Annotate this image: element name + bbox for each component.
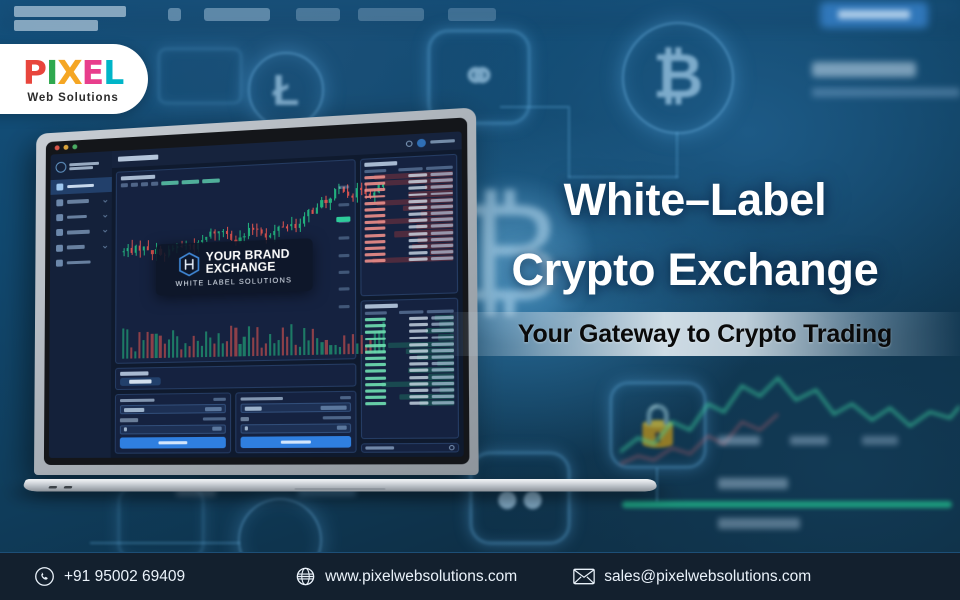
chevron-down-icon	[103, 229, 107, 233]
candle	[316, 180, 319, 316]
chart-tab-1h[interactable]	[141, 182, 148, 186]
chart-tab-indicators[interactable]	[161, 181, 178, 185]
promo-banner: ₿ ⚭ 🔒 ●● Ł PIXEL Web Solutions White–Lab…	[0, 0, 960, 600]
background-card-ghost	[158, 48, 242, 104]
sidebar-icon-charts	[56, 214, 63, 221]
volume-bar	[130, 347, 132, 358]
laptop-screen: YOUR BRAND EXCHANGE WHITE LABEL SOLUTION…	[49, 131, 464, 458]
sidebar-icon-dashboard	[56, 184, 63, 191]
volume-bar	[172, 330, 174, 357]
sell-fee-input[interactable]	[241, 423, 352, 433]
bitcoin-symbol-icon: ₿	[622, 44, 734, 110]
volume-bar	[197, 341, 199, 357]
dashboard-left-column: YOUR BRAND EXCHANGE WHITE LABEL SOLUTION…	[115, 159, 357, 454]
volume-bar	[155, 333, 157, 357]
volume-bar	[269, 334, 271, 355]
candle	[122, 190, 125, 321]
volume-bar	[180, 349, 182, 357]
current-price-marker	[336, 217, 350, 223]
volume-bar	[159, 335, 161, 357]
volume-bar	[334, 345, 336, 354]
brand-overlay: YOUR BRAND EXCHANGE WHITE LABEL SOLUTION…	[156, 238, 313, 296]
order-book-row[interactable]	[365, 387, 454, 394]
brand-overlay-subtitle: WHITE LABEL SOLUTIONS	[176, 277, 293, 288]
buy-order-input[interactable]	[120, 424, 226, 434]
volume-bar	[139, 332, 141, 358]
candle	[130, 189, 133, 321]
volume-bar	[143, 340, 145, 358]
background-text-ghost-1	[718, 436, 760, 445]
volume-bar	[184, 344, 186, 357]
background-panel-subtitle	[812, 88, 960, 97]
avatar[interactable]	[417, 138, 426, 147]
candle	[135, 189, 138, 321]
background-cta-label	[838, 10, 910, 19]
dashboard-header-title	[118, 155, 158, 162]
volume-bar	[360, 334, 362, 353]
hero-subtitle: Your Gateway to Crypto Trading	[450, 312, 960, 356]
background-nav-item-1	[296, 8, 340, 21]
chevron-down-icon	[103, 213, 107, 217]
volume-bar	[290, 324, 292, 355]
laptop-lid: YOUR BRAND EXCHANGE WHITE LABEL SOLUTION…	[34, 107, 479, 475]
volume-bar	[330, 345, 332, 354]
sell-amount-input[interactable]	[241, 403, 351, 414]
volume-bar	[134, 351, 136, 358]
candle	[325, 180, 328, 316]
candle	[320, 180, 323, 316]
sell-now-button[interactable]	[241, 436, 352, 448]
sidebar-label-trading	[67, 230, 90, 235]
laptop-ports	[48, 486, 72, 488]
signal-card-title	[120, 371, 148, 376]
globe-icon	[295, 566, 316, 587]
price-tick	[338, 202, 349, 206]
background-nav-item-2	[358, 8, 424, 21]
chart-card-title	[121, 175, 155, 181]
order-book-row[interactable]	[365, 400, 454, 407]
price-tick	[339, 305, 350, 308]
price-tick	[339, 254, 350, 258]
sidebar-icon-markets	[56, 199, 63, 206]
dashboard-main: YOUR BRAND EXCHANGE WHITE LABEL SOLUTION…	[111, 131, 464, 457]
volume-bar	[209, 338, 211, 357]
brand-overlay-name: YOUR BRAND EXCHANGE	[206, 248, 290, 277]
sidebar-icon-funds	[56, 244, 63, 251]
sidebar-label-funds	[67, 245, 85, 249]
volume-bar	[163, 344, 165, 358]
volume-bar	[321, 342, 323, 354]
sell-form-header	[241, 396, 351, 401]
volume-bar	[343, 335, 345, 354]
envelope-icon	[573, 568, 595, 585]
sidebar-icon-trading	[56, 229, 63, 236]
volume-bar	[295, 344, 297, 354]
price-tick	[339, 288, 350, 291]
volume-bar	[347, 344, 349, 354]
volume-bar	[352, 334, 354, 353]
volume-bar	[243, 337, 245, 356]
background-text-ghost-2	[790, 436, 828, 445]
volume-bar	[260, 348, 262, 356]
volume-bar	[325, 340, 327, 354]
background-panel-title	[812, 62, 916, 77]
trading-signal-card	[115, 363, 356, 390]
whatsapp-icon	[34, 566, 55, 587]
background-nav-item-3	[448, 8, 496, 21]
volume-bar	[226, 341, 228, 356]
notification-bell-icon[interactable]	[406, 140, 413, 147]
volume-bar	[222, 343, 224, 356]
chart-tab-overlay[interactable]	[202, 179, 220, 183]
volume-bar	[356, 343, 358, 353]
dashboard-sidebar	[49, 151, 112, 458]
chart-tab-compare[interactable]	[182, 180, 199, 184]
price-tick	[339, 236, 350, 240]
headline-line-2: Crypto Exchange	[430, 235, 960, 305]
buy-amount-input[interactable]	[120, 404, 226, 414]
dashboard-body: YOUR BRAND EXCHANGE WHITE LABEL SOLUTION…	[111, 149, 464, 457]
volume-bar	[247, 327, 249, 356]
logo-letter-0: P	[23, 57, 46, 89]
volume-bar	[192, 335, 194, 356]
volume-bar	[213, 343, 215, 356]
company-logo[interactable]: PIXEL Web Solutions	[0, 44, 148, 114]
trading-pairs-title	[364, 161, 397, 167]
dashboard-header-actions	[406, 137, 455, 148]
candle	[139, 189, 142, 321]
dashboard-brand-mark-icon	[56, 162, 67, 173]
background-nav-item-0	[204, 8, 270, 21]
volume-bar	[188, 346, 190, 357]
hero-headline: White–Label Crypto Exchange	[430, 165, 960, 305]
volume-bar	[256, 328, 258, 356]
background-brand-ghost-line2	[14, 20, 98, 31]
footer-website-text: www.pixelwebsolutions.com	[325, 568, 517, 586]
volume-bar	[273, 343, 275, 355]
sidebar-label-charts	[67, 215, 87, 219]
footer-email[interactable]: sales@pixelwebsolutions.com	[573, 568, 811, 586]
brand-overlay-line-2: EXCHANGE	[206, 261, 290, 277]
headline-line-1: White–Label	[430, 165, 960, 235]
sidebar-icon-account	[56, 260, 63, 267]
price-tick	[339, 271, 350, 274]
background-text-ghost-4	[718, 478, 788, 489]
sidebar-label-markets	[67, 199, 89, 204]
buy-rows	[365, 315, 454, 407]
chart-tab-5m[interactable]	[131, 183, 138, 187]
logo-wordmark: PIXEL	[23, 55, 124, 89]
hexagon-h-logo-icon	[178, 252, 200, 277]
status-bar	[361, 443, 459, 453]
chevron-down-icon	[103, 244, 107, 248]
volume-bar	[122, 328, 124, 358]
volume-bar	[218, 333, 220, 356]
sell-form-subheader	[241, 416, 351, 421]
dashboard-brand-text	[69, 161, 99, 170]
volume-bar	[282, 328, 284, 355]
price-tick	[338, 185, 349, 189]
volume-bar	[235, 327, 237, 356]
signal-card-button[interactable]	[120, 377, 161, 386]
status-label	[365, 446, 394, 450]
buy-form-header	[120, 397, 226, 402]
logo-letter-1: I	[46, 57, 57, 89]
laptop-bezel: YOUR BRAND EXCHANGE WHITE LABEL SOLUTION…	[44, 117, 470, 465]
volume-bar	[308, 340, 310, 355]
price-axis	[336, 179, 351, 316]
logo-letter-3: E	[82, 57, 104, 89]
logo-letter-4: L	[103, 57, 123, 89]
volume-bar	[264, 343, 266, 355]
footer-website[interactable]: www.pixelwebsolutions.com	[295, 566, 517, 587]
logo-letter-2: X	[57, 57, 81, 89]
footer-phone-text: +91 95002 69409	[64, 568, 185, 586]
sidebar-label-account	[67, 260, 91, 264]
buy-now-button[interactable]	[120, 437, 226, 449]
trading-fees-book	[360, 298, 459, 439]
volume-bar	[252, 338, 254, 356]
background-mini-chart	[620, 360, 960, 480]
background-brand-ghost-line1	[14, 6, 126, 17]
order-forms	[115, 391, 357, 454]
sidebar-label-dashboard	[67, 184, 94, 189]
logo-tagline: Web Solutions	[27, 92, 118, 104]
sell-order-form	[235, 391, 356, 454]
background-text-ghost-3	[862, 436, 898, 445]
volume-bar	[277, 341, 279, 356]
litecoin-symbol-icon: Ł	[248, 64, 324, 118]
volume-bar	[151, 333, 153, 357]
candle	[355, 178, 358, 315]
volume-bar	[205, 331, 207, 356]
volume-bar	[167, 340, 169, 358]
candle	[147, 189, 150, 321]
footer-email-text: sales@pixelwebsolutions.com	[604, 568, 811, 586]
buy-order-form	[115, 392, 231, 453]
volume-bar	[239, 344, 241, 356]
volume-bar	[126, 330, 128, 358]
user-name-label	[430, 139, 455, 144]
laptop-camera-dots	[55, 144, 78, 150]
order-book-row[interactable]	[365, 394, 454, 401]
chart-tab-1m[interactable]	[121, 183, 128, 187]
brand-overlay-row: YOUR BRAND EXCHANGE	[178, 248, 290, 278]
blockchain-molecule-icon: ⚭	[428, 48, 530, 106]
volume-bar	[176, 337, 178, 358]
volume-bar	[147, 332, 149, 358]
status-indicator-icon	[449, 445, 455, 450]
chevron-down-icon	[103, 198, 107, 202]
background-progress-bar	[622, 501, 952, 508]
candle	[151, 188, 154, 320]
volume-bar	[316, 338, 318, 355]
volume-bar	[230, 325, 232, 356]
laptop-trackpad-notch	[294, 488, 385, 490]
candle	[351, 178, 354, 315]
buy-form-subheader	[120, 417, 226, 422]
volume-bar	[303, 328, 305, 355]
dashboard-brand	[51, 155, 112, 180]
volume-series	[122, 319, 335, 358]
contact-footer: +91 95002 69409 www.pixelwebsolutions.co…	[0, 552, 960, 600]
background-nav-grid-icon	[168, 8, 181, 21]
sidebar-item-account[interactable]	[50, 254, 112, 272]
background-text-ghost-5	[718, 518, 800, 529]
candle	[329, 180, 332, 316]
volume-bar	[312, 329, 314, 355]
trading-chart-card: YOUR BRAND EXCHANGE WHITE LABEL SOLUTION…	[115, 159, 356, 363]
chart-tab-1d[interactable]	[151, 182, 158, 186]
volume-bar	[201, 346, 203, 357]
footer-phone[interactable]: +91 95002 69409	[34, 566, 185, 587]
candle	[143, 189, 146, 321]
volume-bar	[299, 347, 301, 355]
candle	[126, 190, 129, 321]
signal-card-header	[120, 367, 351, 375]
volume-bar	[338, 347, 340, 354]
volume-bar	[286, 337, 288, 355]
laptop-base	[21, 479, 659, 491]
candle	[360, 178, 363, 315]
